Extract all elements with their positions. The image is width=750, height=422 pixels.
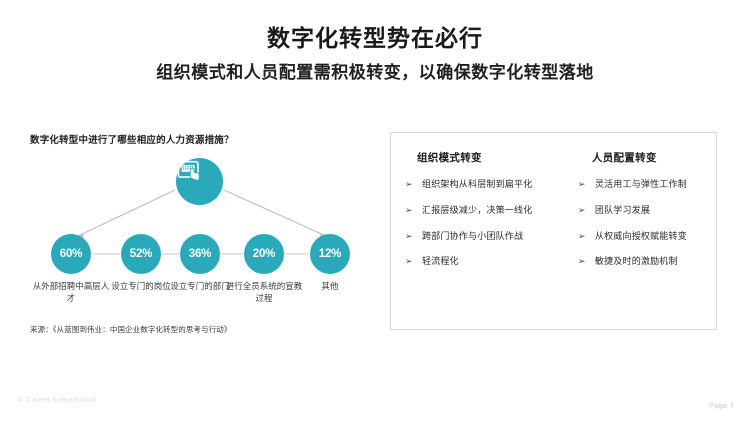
footer-copyright: © Career International xyxy=(18,395,96,404)
touchscreen-tablet-hand-icon xyxy=(176,158,223,205)
arrow-bullet-icon: ➢ xyxy=(405,231,413,242)
list-item-label: 敏捷及时的激励机制 xyxy=(595,256,678,266)
column-heading: 组织模式转变 xyxy=(405,150,560,165)
source-note: 来源：《从蓝图到伟业：中国企业数字化转型的思考与行动》 xyxy=(30,324,231,335)
survey-node-label-4: 其他 xyxy=(288,280,372,292)
survey-node-value: 12% xyxy=(319,248,341,260)
list-item-label: 从权威向授权赋能转变 xyxy=(595,231,687,241)
list-item-label: 跨部门协作与小团队作战 xyxy=(422,231,523,241)
survey-node-3: 20% xyxy=(244,234,284,274)
arrow-bullet-icon: ➢ xyxy=(578,179,586,190)
arrow-bullet-icon: ➢ xyxy=(578,231,586,242)
list-item-label: 团队学习发展 xyxy=(595,205,650,215)
survey-node-value: 52% xyxy=(130,248,152,260)
list-item: ➢ 汇报层级减少，决策一线化 xyxy=(405,205,560,216)
survey-node-0: 60% xyxy=(51,234,91,274)
arrow-bullet-icon: ➢ xyxy=(405,205,413,216)
list-item: ➢ 灵活用工与弹性工作制 xyxy=(578,179,708,190)
survey-node-value: 36% xyxy=(189,248,211,260)
arrow-bullet-icon: ➢ xyxy=(578,205,586,216)
survey-panel: 数字化转型中进行了哪些相应的人力资源措施？ xyxy=(30,132,380,342)
survey-diagram: 60% 52% 36% 20% 12% 从外部招聘中高层人才 设立专门的岗位 设… xyxy=(30,158,380,278)
bullet-list: ➢ 组织架构从科层制到扁平化 ➢ 汇报层级减少，决策一线化 ➢ 跨部门协作与小团… xyxy=(405,179,560,267)
list-item-label: 组织架构从科层制到扁平化 xyxy=(422,179,532,189)
list-item-label: 汇报层级减少，决策一线化 xyxy=(422,205,532,215)
arrow-bullet-icon: ➢ xyxy=(405,179,413,190)
list-item: ➢ 跨部门协作与小团队作战 xyxy=(405,231,560,242)
arrow-bullet-icon: ➢ xyxy=(405,256,413,267)
survey-node-1: 52% xyxy=(121,234,161,274)
transformation-column-staffing: 人员配置转变 ➢ 灵活用工与弹性工作制 ➢ 团队学习发展 ➢ 从权威向授权赋能转… xyxy=(568,133,716,329)
list-item-label: 轻流程化 xyxy=(422,256,459,266)
list-item: ➢ 敏捷及时的激励机制 xyxy=(578,256,708,267)
survey-node-4: 12% xyxy=(310,234,350,274)
arrow-bullet-icon: ➢ xyxy=(578,256,586,267)
transformation-column-organization: 组织模式转变 ➢ 组织架构从科层制到扁平化 ➢ 汇报层级减少，决策一线化 ➢ 跨… xyxy=(391,133,568,329)
footer-page-number: Page 7 xyxy=(709,401,734,410)
slide-header: 数字化转型势在必行 组织模式和人员配置需积极转变，以确保数字化转型落地 xyxy=(0,0,750,84)
list-item-label: 灵活用工与弹性工作制 xyxy=(595,179,687,189)
column-heading: 人员配置转变 xyxy=(578,150,708,165)
page-subtitle: 组织模式和人员配置需积极转变，以确保数字化转型落地 xyxy=(0,51,750,83)
list-item: ➢ 组织架构从科层制到扁平化 xyxy=(405,179,560,190)
list-item: ➢ 轻流程化 xyxy=(405,256,560,267)
page-title: 数字化转型势在必行 xyxy=(0,0,750,51)
bullet-list: ➢ 灵活用工与弹性工作制 ➢ 团队学习发展 ➢ 从权威向授权赋能转变 ➢ 敏捷及… xyxy=(578,179,708,267)
transformation-panel: 组织模式转变 ➢ 组织架构从科层制到扁平化 ➢ 汇报层级减少，决策一线化 ➢ 跨… xyxy=(390,132,717,330)
survey-node-2: 36% xyxy=(180,234,220,274)
survey-node-value: 60% xyxy=(60,248,82,260)
list-item: ➢ 团队学习发展 xyxy=(578,205,708,216)
survey-node-value: 20% xyxy=(253,248,275,260)
list-item: ➢ 从权威向授权赋能转变 xyxy=(578,231,708,242)
survey-question: 数字化转型中进行了哪些相应的人力资源措施？ xyxy=(30,132,380,146)
